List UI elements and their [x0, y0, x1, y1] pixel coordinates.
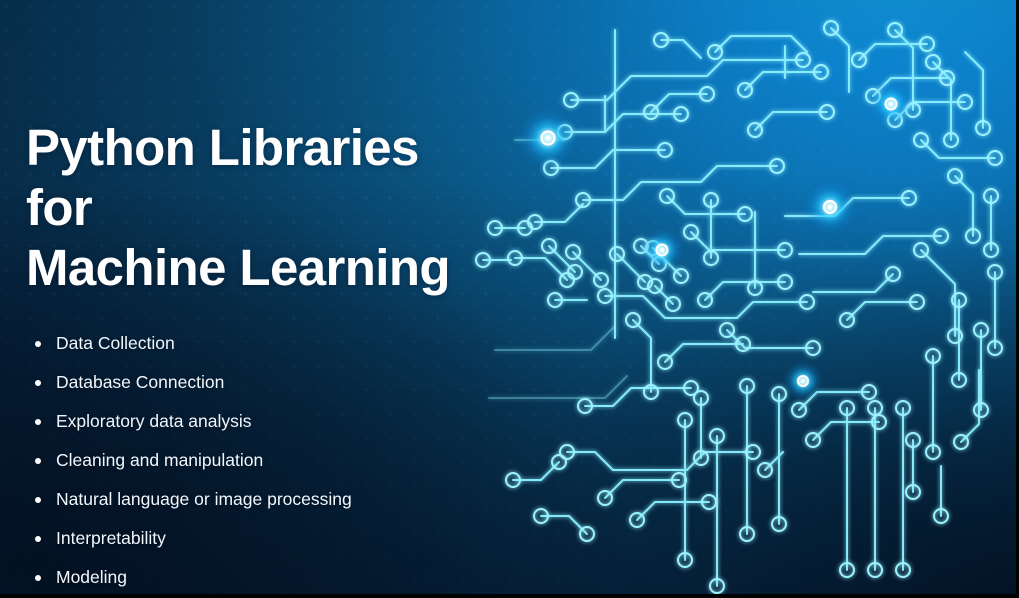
circuit-brain-graphic	[455, 0, 1019, 598]
list-item: Cleaning and manipulation	[26, 441, 456, 480]
bullet-dot-icon	[35, 536, 41, 542]
text-column: Python Libraries for Machine Learning Da…	[26, 118, 456, 598]
list-item-label: Database Connection	[56, 372, 224, 392]
list-item: Modeling	[26, 558, 456, 597]
page-title-line-1: Python Libraries for	[26, 118, 456, 238]
bullet-dot-icon	[35, 575, 41, 581]
bullet-dot-icon	[35, 497, 41, 503]
list-item: Data Collection	[26, 324, 456, 363]
list-item-label: Data Collection	[56, 333, 175, 353]
list-item: Exploratory data analysis	[26, 402, 456, 441]
list-item-label: Cleaning and manipulation	[56, 450, 263, 470]
list-item: Interpretability	[26, 519, 456, 558]
bullet-dot-icon	[35, 419, 41, 425]
bullet-dot-icon	[35, 458, 41, 464]
list-item-label: Modeling	[56, 567, 127, 587]
list-item: Natural language or image processing	[26, 480, 456, 519]
topic-list: Data Collection Database Connection Expl…	[26, 324, 456, 598]
list-item: Database Connection	[26, 363, 456, 402]
page-title-line-2: Machine Learning	[26, 238, 456, 298]
glow-nodes	[518, 82, 913, 401]
bullet-dot-icon	[35, 341, 41, 347]
list-item-label: Interpretability	[56, 528, 166, 548]
list-item-label: Natural language or image processing	[56, 489, 352, 509]
list-item-label: Exploratory data analysis	[56, 411, 252, 431]
page-title: Python Libraries for Machine Learning	[26, 118, 456, 298]
slide-canvas: Python Libraries for Machine Learning Da…	[0, 0, 1019, 598]
bullet-dot-icon	[35, 380, 41, 386]
